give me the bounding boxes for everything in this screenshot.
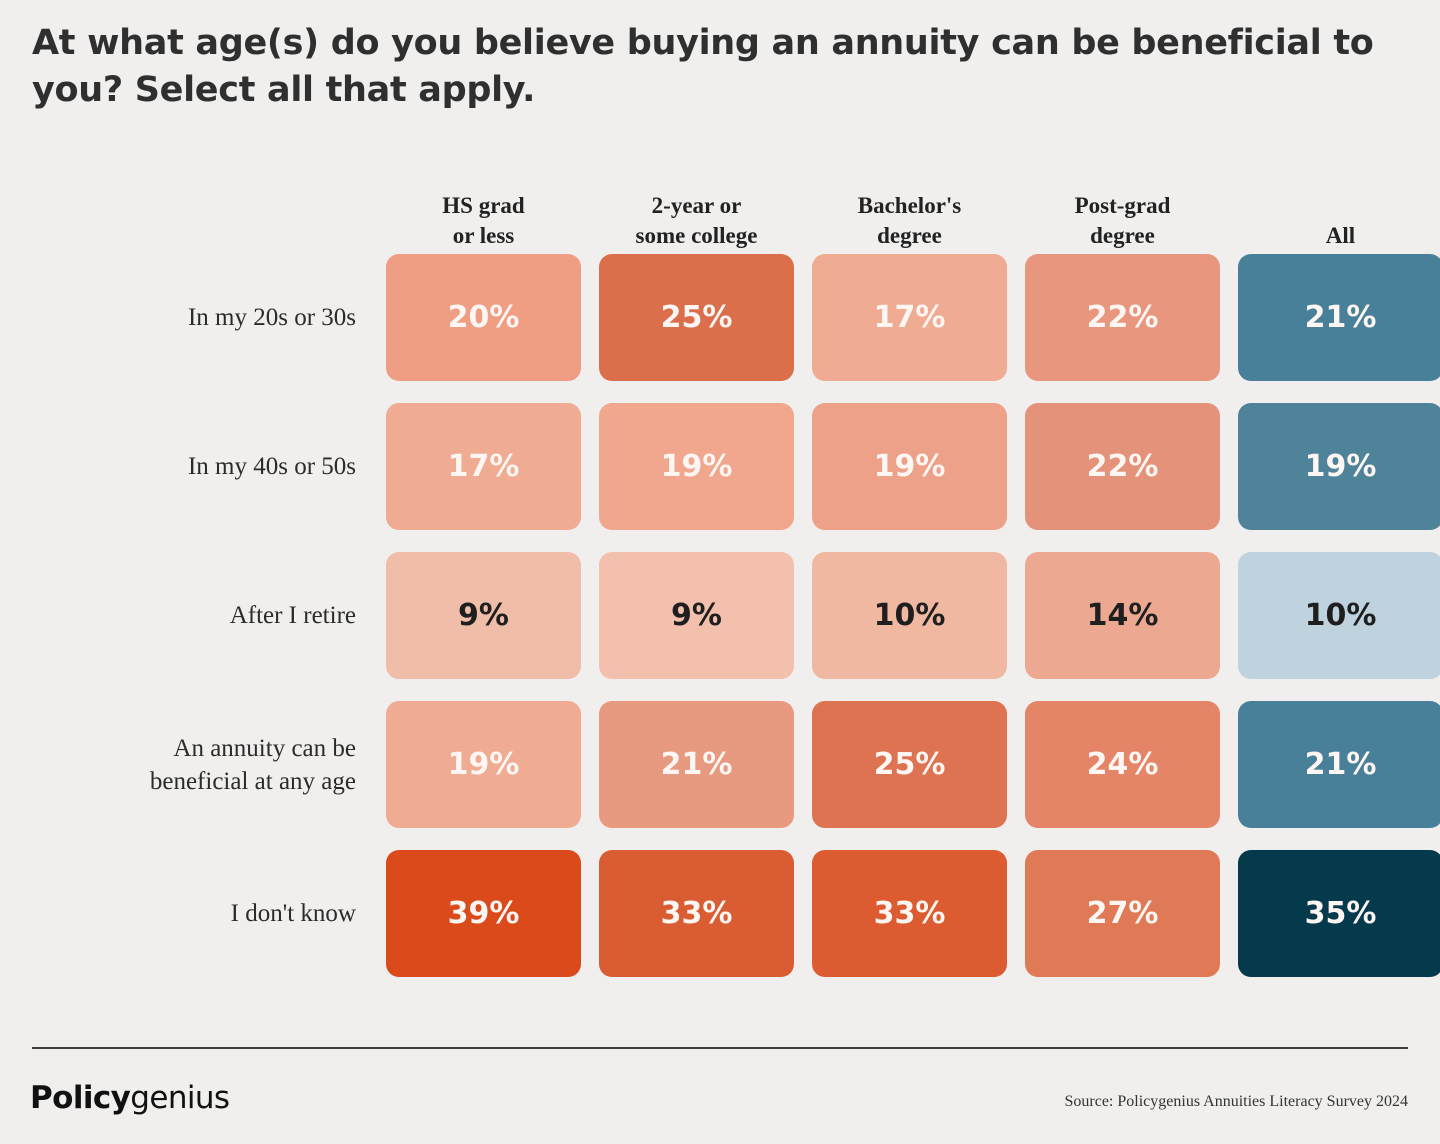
heatmap-cell[interactable]: 19%: [812, 403, 1007, 530]
heatmap-cell-all[interactable]: 10%: [1238, 552, 1440, 679]
heatmap-cell[interactable]: 22%: [1025, 403, 1220, 530]
heatmap-cell[interactable]: 27%: [1025, 850, 1220, 977]
cell-value: 22%: [1087, 449, 1159, 484]
heatmap-cell[interactable]: 33%: [812, 850, 1007, 977]
policygenius-logo: Policygenius: [30, 1080, 229, 1116]
column-header-line1: Bachelor's: [858, 193, 962, 218]
cell-value: 25%: [661, 300, 733, 335]
cell-value: 9%: [671, 598, 722, 633]
row-label-in-my-20s-or-30s: In my 20s or 30s: [0, 254, 386, 381]
logo-bold-part: Policy: [30, 1080, 130, 1116]
heatmap-cell[interactable]: 39%: [386, 850, 581, 977]
row-label-line1: An annuity can be: [173, 735, 356, 762]
cell-value: 10%: [874, 598, 946, 633]
column-header-line2: degree: [877, 223, 942, 248]
row-label-after-i-retire: After I retire: [0, 552, 386, 679]
cell-value: 27%: [1087, 896, 1159, 931]
column-header-line2: or less: [453, 223, 515, 248]
heatmap-cell[interactable]: 24%: [1025, 701, 1220, 828]
cell-value: 24%: [1087, 747, 1159, 782]
cell-value: 17%: [448, 449, 520, 484]
heatmap-cell[interactable]: 25%: [812, 701, 1007, 828]
heatmap-cell[interactable]: 10%: [812, 552, 1007, 679]
cell-value: 20%: [448, 300, 520, 335]
cell-value: 19%: [1305, 449, 1377, 484]
heatmap-cell-all[interactable]: 19%: [1238, 403, 1440, 530]
cell-value: 33%: [874, 896, 946, 931]
heatmap-cell[interactable]: 17%: [812, 254, 1007, 381]
column-header-bachelors-degree: Bachelor's degree: [812, 168, 1007, 254]
column-header-line1: 2-year or: [652, 193, 742, 218]
row-label-line2: beneficial at any age: [150, 768, 356, 795]
row-label-i-dont-know: I don't know: [0, 850, 386, 977]
cell-value: 39%: [448, 896, 520, 931]
row-label-line1: After I retire: [230, 602, 356, 629]
column-header-hs-grad-or-less: HS grad or less: [386, 168, 581, 254]
heatmap-cell[interactable]: 9%: [386, 552, 581, 679]
heatmap-cell-all[interactable]: 35%: [1238, 850, 1440, 977]
heatmap-cell[interactable]: 21%: [599, 701, 794, 828]
heatmap-cell[interactable]: 25%: [599, 254, 794, 381]
heatmap-row-i-dont-know: I don't know 39% 33% 33% 27% 35%: [0, 850, 1440, 977]
cell-value: 21%: [1305, 300, 1377, 335]
column-header-2-year-or-some-college: 2-year or some college: [599, 168, 794, 254]
heatmap-grid: HS grad or less 2-year or some college B…: [0, 168, 1440, 999]
cell-value: 35%: [1305, 896, 1377, 931]
cell-value: 19%: [874, 449, 946, 484]
row-label-in-my-40s-or-50s: In my 40s or 50s: [0, 403, 386, 530]
chart-canvas: At what age(s) do you believe buying an …: [0, 0, 1440, 1144]
corner-spacer: [0, 168, 386, 254]
heatmap-row-in-my-40s-or-50s: In my 40s or 50s 17% 19% 19% 22% 19%: [0, 403, 1440, 530]
heatmap-row-annuity-beneficial-any-age: An annuity can be beneficial at any age …: [0, 701, 1440, 828]
heatmap-cell[interactable]: 14%: [1025, 552, 1220, 679]
column-header-line1: HS grad: [442, 193, 524, 218]
heatmap-cell[interactable]: 17%: [386, 403, 581, 530]
heatmap-cell[interactable]: 9%: [599, 552, 794, 679]
cell-value: 22%: [1087, 300, 1159, 335]
heatmap-cell[interactable]: 19%: [386, 701, 581, 828]
cell-value: 19%: [448, 747, 520, 782]
cell-value: 17%: [874, 300, 946, 335]
column-header-line2: some college: [636, 223, 758, 248]
column-header-line1: Post-grad: [1075, 193, 1171, 218]
column-header-line2: degree: [1090, 223, 1155, 248]
cell-value: 10%: [1305, 598, 1377, 633]
column-header-all: All: [1238, 168, 1440, 254]
column-header-post-grad-degree: Post-grad degree: [1025, 168, 1220, 254]
cell-value: 33%: [661, 896, 733, 931]
heatmap-cell[interactable]: 19%: [599, 403, 794, 530]
heatmap-cell[interactable]: 33%: [599, 850, 794, 977]
footer-divider: [32, 1047, 1408, 1049]
heatmap-row-after-i-retire: After I retire 9% 9% 10% 14% 10%: [0, 552, 1440, 679]
column-header-row: HS grad or less 2-year or some college B…: [0, 168, 1440, 254]
heatmap-cell-all[interactable]: 21%: [1238, 254, 1440, 381]
cell-value: 14%: [1087, 598, 1159, 633]
source-note: Source: Policygenius Annuities Literacy …: [1065, 1093, 1409, 1111]
column-header-line1: All: [1326, 223, 1355, 248]
heatmap-cell[interactable]: 20%: [386, 254, 581, 381]
row-label-line1: In my 40s or 50s: [188, 453, 356, 480]
row-label-annuity-beneficial-any-age: An annuity can be beneficial at any age: [0, 701, 386, 828]
chart-title: At what age(s) do you believe buying an …: [32, 20, 1402, 115]
cell-value: 9%: [458, 598, 509, 633]
cell-value: 25%: [874, 747, 946, 782]
logo-light-part: genius: [130, 1080, 229, 1116]
cell-value: 21%: [1305, 747, 1377, 782]
heatmap-row-in-my-20s-or-30s: In my 20s or 30s 20% 25% 17% 22% 21%: [0, 254, 1440, 381]
heatmap-cell[interactable]: 22%: [1025, 254, 1220, 381]
cell-value: 21%: [661, 747, 733, 782]
row-label-line1: In my 20s or 30s: [188, 304, 356, 331]
row-label-line1: I don't know: [231, 900, 356, 927]
cell-value: 19%: [661, 449, 733, 484]
heatmap-cell-all[interactable]: 21%: [1238, 701, 1440, 828]
